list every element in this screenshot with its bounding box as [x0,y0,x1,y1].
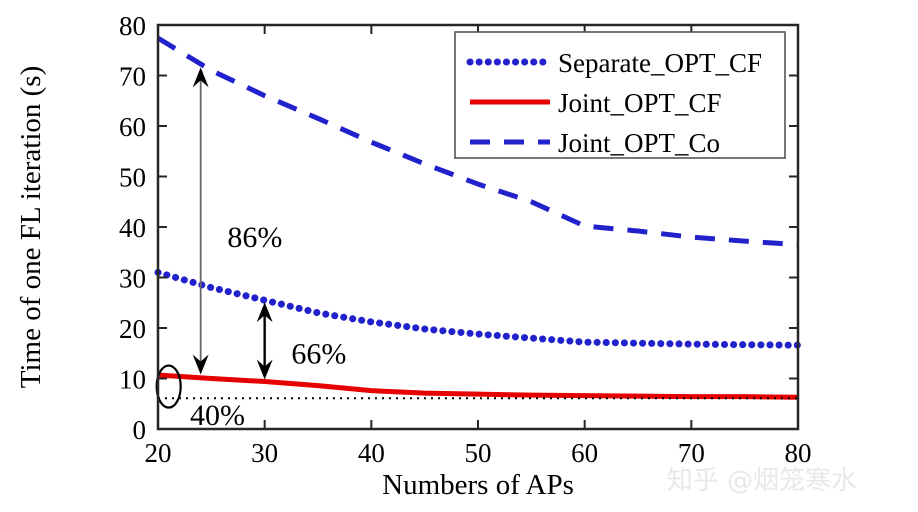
legend: Separate_OPT_CFJoint_OPT_CFJoint_OPT_Co [455,32,785,158]
x-tick-label: 80 [785,438,812,468]
y-tick-label: 80 [119,11,146,41]
chart-figure: 86%66%40% 203040506070800102030405060708… [0,0,918,512]
x-tick-label: 70 [678,438,705,468]
annotation-label: 66% [291,337,346,370]
x-tick-label: 20 [145,438,172,468]
legend-label: Separate_OPT_CF [558,48,762,78]
y-tick-label: 0 [133,415,147,445]
y-tick-label: 30 [119,264,146,294]
y-tick-label: 70 [119,62,146,92]
legend-entries: Separate_OPT_CFJoint_OPT_CFJoint_OPT_Co [470,48,762,158]
x-tick-label: 60 [571,438,598,468]
y-axis-title: Time of one FL iteration (s) [15,66,47,388]
x-tick-label: 40 [358,438,385,468]
legend-label: Joint_OPT_Co [558,128,720,158]
y-tick-label: 20 [119,314,146,344]
x-tick-label: 30 [251,438,278,468]
watermark-text: 知乎 @烟笼寒水 [667,466,857,496]
y-tick-label: 40 [119,213,146,243]
y-tick-label: 10 [119,365,146,395]
chart-svg: 86%66%40% 203040506070800102030405060708… [0,0,918,512]
y-tick-label: 50 [119,163,146,193]
annotation-label: 86% [227,221,282,254]
x-tick-label: 50 [465,438,492,468]
legend-label: Joint_OPT_CF [558,88,722,118]
x-axis-title: Numbers of APs [382,469,574,501]
y-tick-label: 60 [119,112,146,142]
annotation-label: 40% [190,399,245,432]
